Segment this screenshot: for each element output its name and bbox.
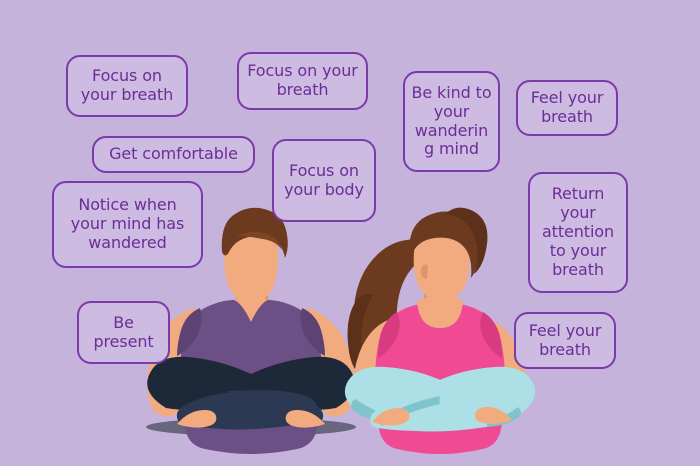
man-shin-front [177,390,317,429]
prompt-card-focus-on-your-body[interactable]: Focus on your body [272,139,376,222]
man-shirt-hem [195,382,306,424]
woman-shirt-neckline [417,296,463,328]
man-sleeve-right [301,308,325,356]
prompt-card-label: Focus on your breath [68,67,186,105]
woman-shirt-hem [399,386,482,428]
prompt-card-label: Get comfortable [94,145,253,164]
woman-hair-back [353,240,440,383]
woman-shirt [375,303,505,454]
prompt-card-label: Return your attention to your breath [530,185,626,279]
prompt-card-be-kind-wandering-mind[interactable]: Be kind to your wandering mind [403,71,500,172]
woman-sleeve-right [480,312,502,358]
prompt-card-focus-on-your-breath-1[interactable]: Focus on your breath [66,55,188,117]
woman-foot-left [372,408,409,426]
man-foot-right [286,410,325,428]
prompt-card-label: Be kind to your wandering mind [405,84,498,160]
prompt-card-be-present[interactable]: Be present [77,301,170,364]
woman-hands [412,384,470,416]
woman-hair-top-shadow [445,208,487,274]
man-leg-far-right [219,357,355,410]
prompt-card-label: Be present [79,314,168,352]
woman-shin-front [370,396,507,432]
illustration-canvas: Focus on your breath Focus on your breat… [0,0,700,466]
woman-neck [424,280,455,315]
prompt-card-return-attention-breath[interactable]: Return your attention to your breath [528,172,628,293]
prompt-card-label: Feel your breath [516,322,614,360]
figure-woman-meditating [345,208,535,454]
woman-shin-cross-shadow [380,396,440,426]
prompt-card-label: Notice when your mind has wandered [54,196,201,253]
prompt-card-focus-on-your-breath-2[interactable]: Focus on your breath [237,52,368,110]
prompt-card-feel-your-breath-bottom[interactable]: Feel your breath [514,312,616,369]
prompt-card-label: Feel your breath [518,89,616,127]
prompt-card-get-comfortable[interactable]: Get comfortable [92,136,255,173]
woman-arm-left [353,318,419,413]
woman-sleeve-left [378,312,400,358]
prompt-card-feel-your-breath-top[interactable]: Feel your breath [516,80,618,136]
woman-hair-back-shadow [348,294,373,382]
woman-leg-right [405,367,535,417]
woman-leg-shadow-left [351,399,412,426]
man-foot-left [177,410,216,428]
woman-head [414,220,470,303]
prompt-card-label: Focus on your body [274,162,374,200]
man-sleeve-left [177,308,201,356]
man-head [224,221,278,304]
woman-leg-shadow-right [487,407,521,427]
man-shin-cross [226,391,323,426]
man-hair-highlight [236,232,282,250]
man-shirt [180,300,322,454]
prompt-card-notice-mind-wandered[interactable]: Notice when your mind has wandered [52,181,203,268]
woman-foot-right [475,407,512,424]
woman-hair-front [409,211,479,278]
woman-leg-left [345,367,475,417]
man-floor-shadow [146,418,356,436]
man-hands [220,382,282,416]
man-shirt-vneck [234,296,268,322]
prompt-card-label: Focus on your breath [239,62,366,100]
woman-ear [421,265,428,279]
man-neck [236,285,268,315]
man-leg-far-left [147,357,283,410]
man-arm-right [280,308,355,416]
